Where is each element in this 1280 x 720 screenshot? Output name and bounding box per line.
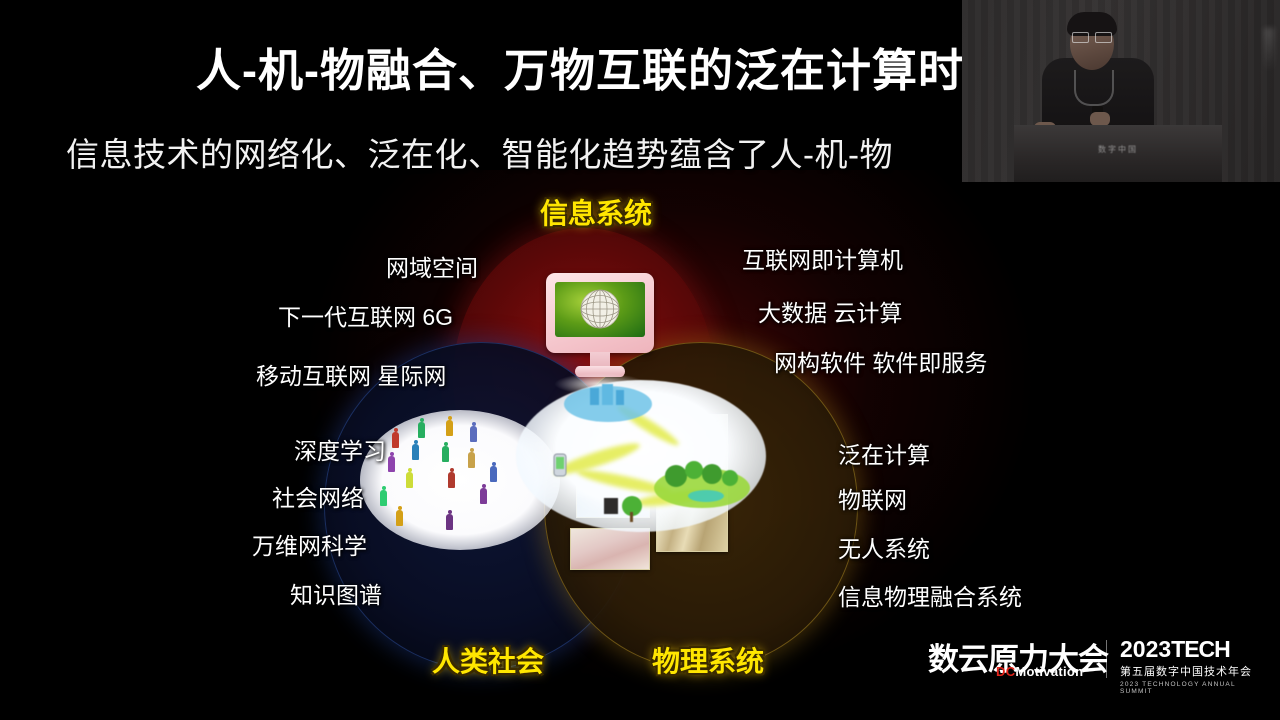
term-mobile-internet: 移动互联网 星际网	[256, 357, 446, 391]
pip-side-light	[1264, 28, 1274, 72]
monitor-globe-icon	[546, 273, 654, 383]
logo-divider	[1106, 640, 1107, 678]
page-title: 人-机-物融合、万物互联的泛在计算时代	[196, 34, 1016, 99]
venn-label-human-society: 人类社会	[432, 640, 544, 680]
vehicles-photo-icon	[570, 528, 650, 570]
venn-label-physical-system: 物理系统	[652, 640, 764, 680]
term-internet-as-computer: 互联网即计算机	[742, 241, 903, 275]
logo-tech: TECH	[1171, 636, 1230, 662]
pip-podium: 数字中国	[1014, 125, 1222, 182]
conference-logo-right: 2023TECH 第五届数字中国技术年会 2023 TECHNOLOGY ANN…	[1120, 638, 1270, 695]
term-cyberspace: 网域空间	[386, 249, 478, 283]
term-bigdata-cloud: 大数据 云计算	[758, 294, 902, 328]
convergence-glow-icon	[516, 380, 766, 532]
logo-en-dc: DC	[996, 664, 1015, 679]
logo-year-tech: 2023TECH	[1120, 638, 1270, 661]
logo-en-motivation: Motivation	[1015, 664, 1083, 679]
city-illustration-icon	[554, 384, 750, 522]
speaker-video-overlay[interactable]: 数字中国	[962, 0, 1280, 182]
term-unmanned-systems: 无人系统	[838, 530, 930, 564]
logo-year: 2023	[1120, 636, 1171, 662]
logo-summit-en: 2023 TECHNOLOGY ANNUAL SUMMIT	[1120, 681, 1270, 695]
page-subtitle: 信息技术的网络化、泛在化、智能化趋势蕴含了人-机-物	[66, 128, 1006, 176]
term-ubiquitous-computing: 泛在计算	[838, 436, 930, 470]
term-iot: 物联网	[838, 481, 907, 515]
logo-en-subtitle: DCMotivation	[996, 664, 1083, 679]
logo-text-yun: 云	[958, 644, 988, 675]
term-deep-learning: 深度学习	[294, 432, 386, 466]
term-knowledge-graph: 知识图谱	[290, 576, 382, 610]
glasses-icon	[1072, 32, 1112, 41]
term-internetware-saas: 网构软件 软件即服务	[774, 344, 987, 378]
venn-label-information-system: 信息系统	[540, 192, 652, 232]
term-cyber-physical-systems: 信息物理融合系统	[838, 578, 1022, 612]
pip-podium-text: 数字中国	[1014, 144, 1222, 155]
pip-speaker-hand-right	[1090, 112, 1110, 126]
logo-text-shu: 数	[928, 644, 958, 675]
logo-summit-cn: 第五届数字中国技术年会	[1120, 663, 1270, 679]
lanyard-icon	[1074, 70, 1114, 106]
conference-logo-left: 数 云 原力大会 DCMotivation	[928, 636, 1108, 682]
term-social-network: 社会网络	[272, 479, 364, 513]
term-web-science: 万维网科学	[252, 527, 367, 561]
slide-stage: 人-机-物融合、万物互联的泛在计算时代 信息技术的网络化、泛在化、智能化趋势蕴含…	[0, 0, 1280, 720]
term-next-gen-internet: 下一代互联网 6G	[278, 298, 453, 332]
globe-icon	[555, 282, 645, 337]
